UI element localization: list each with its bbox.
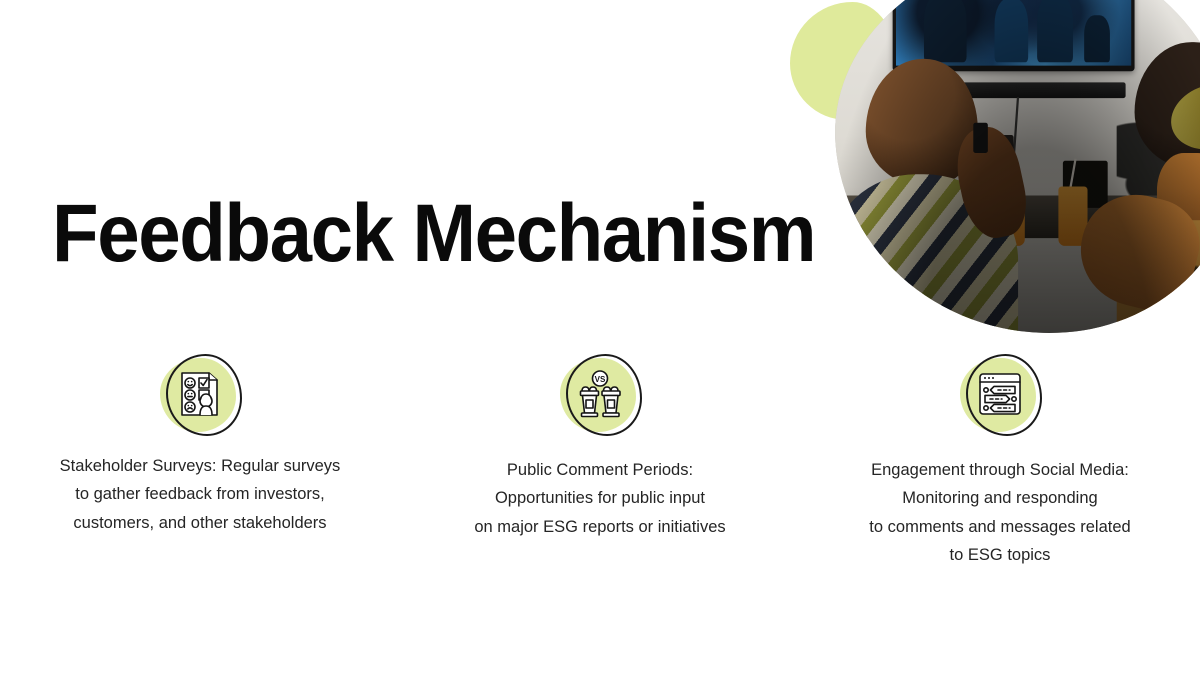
column-description: Public Comment Periods: Opportunities fo… xyxy=(474,456,725,541)
page-title: Feedback Mechanism xyxy=(52,191,815,277)
feature-columns: Stakeholder Surveys: Regular surveys to … xyxy=(0,352,1200,570)
slide-canvas: Feedback Mechanism xyxy=(0,0,1200,675)
column-social-media-engagement: Engagement through Social Media: Monitor… xyxy=(800,352,1200,570)
column-description: Stakeholder Surveys: Regular surveys to … xyxy=(60,452,341,537)
hero-photo xyxy=(823,0,1200,347)
social-media-messages-icon xyxy=(958,352,1042,436)
survey-form-icon xyxy=(158,352,242,436)
column-description: Engagement through Social Media: Monitor… xyxy=(869,456,1130,570)
svg-text:VS: VS xyxy=(595,375,606,384)
column-public-comment-periods: VS Public Comment Periods: Opportunities… xyxy=(400,352,800,570)
column-stakeholder-surveys: Stakeholder Surveys: Regular surveys to … xyxy=(0,352,400,570)
hero-photo-scene xyxy=(823,0,1200,347)
photo-vignette xyxy=(823,0,1200,347)
debate-podium-vs-icon: VS xyxy=(558,352,642,436)
